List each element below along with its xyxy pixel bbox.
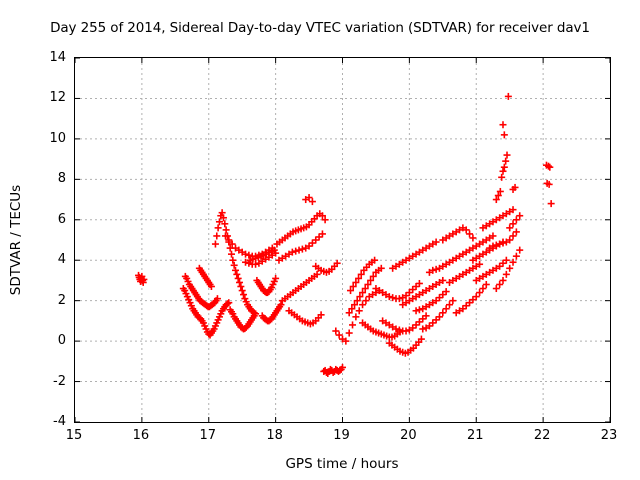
x-tick-label: 18 <box>266 429 283 442</box>
x-axis-label: GPS time / hours <box>74 456 610 472</box>
y-tick-label: -4 <box>53 415 66 428</box>
y-axis-label: SDTVAR / TECUs <box>8 170 24 310</box>
x-tick-label: 17 <box>199 429 216 442</box>
plot-area <box>74 57 611 423</box>
x-tick-label: 21 <box>467 429 484 442</box>
y-tick-label: 0 <box>58 334 66 347</box>
x-tick-label: 23 <box>601 429 618 442</box>
y-tick-label: 4 <box>58 253 66 266</box>
x-axis-tick-labels: 151617181920212223 <box>74 429 610 447</box>
chart-title: Day 255 of 2014, Sidereal Day-to-day VTE… <box>0 20 640 36</box>
chart-container: Day 255 of 2014, Sidereal Day-to-day VTE… <box>0 0 640 480</box>
x-tick-label: 19 <box>333 429 350 442</box>
x-tick-label: 20 <box>400 429 417 442</box>
y-tick-label: 8 <box>58 172 66 185</box>
data-points-layer <box>75 58 610 422</box>
x-tick-label: 15 <box>66 429 83 442</box>
x-tick-label: 22 <box>534 429 551 442</box>
y-tick-label: 14 <box>49 51 66 64</box>
data-series <box>135 93 555 377</box>
y-tick-label: 10 <box>49 132 66 145</box>
y-tick-label: 12 <box>49 91 66 104</box>
y-tick-label: 6 <box>58 213 66 226</box>
y-tick-label: -2 <box>53 375 66 388</box>
x-tick-label: 16 <box>133 429 150 442</box>
y-tick-label: 2 <box>58 294 66 307</box>
